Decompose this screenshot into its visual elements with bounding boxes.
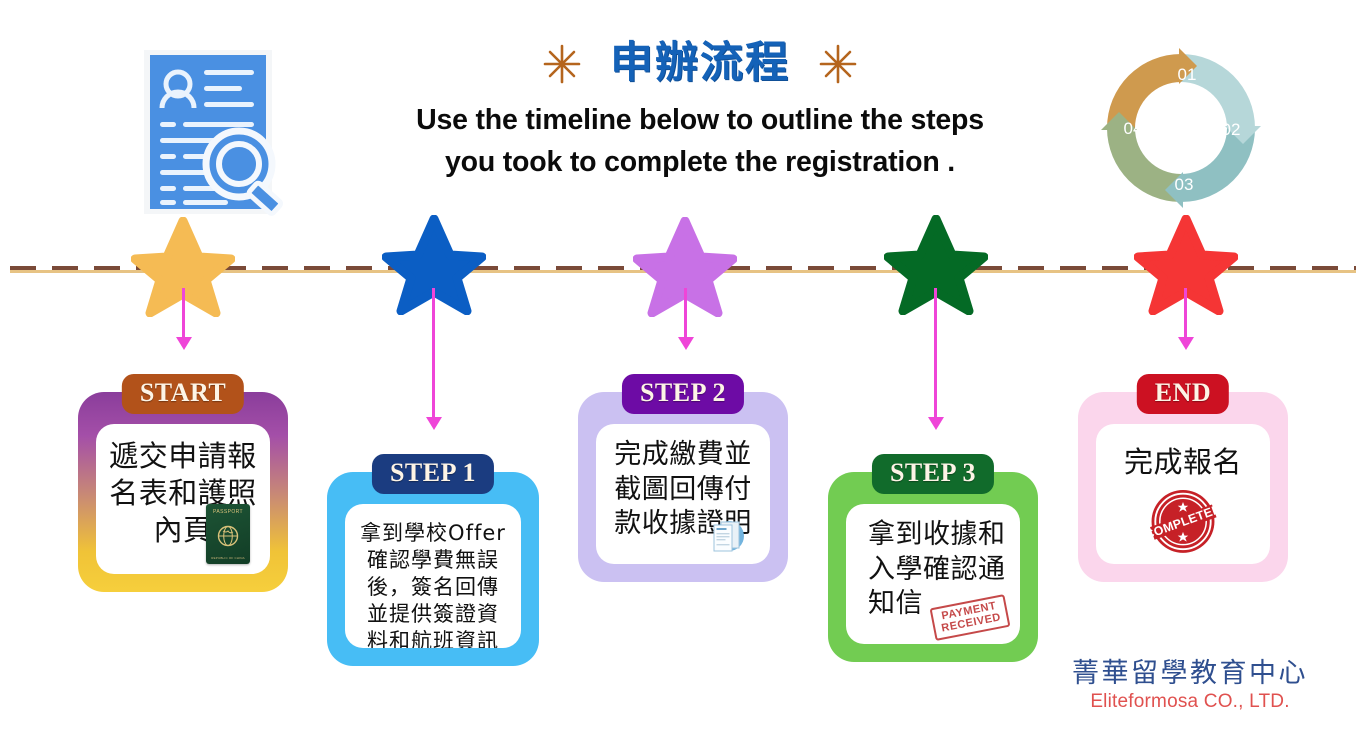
globe-icon: [217, 525, 239, 547]
receipt-icon: [706, 514, 748, 556]
header-block: 申辦流程 Use the timeline below to outline t…: [355, 40, 1045, 182]
card-end-text: 完成報名: [1124, 444, 1242, 481]
document-search-icon: [128, 42, 306, 222]
card-step1[interactable]: STEP 1 拿到學校Offer 確認學費無誤 後，簽名回傳 並提供簽證資 料和…: [327, 472, 539, 666]
logo-name-cn: 菁華留學教育中心: [1030, 658, 1350, 689]
card-step1-body: 拿到學校Offer 確認學費無誤 後，簽名回傳 並提供簽證資 料和航班資訊: [345, 504, 521, 648]
passport-label-top: PASSPORT: [213, 509, 243, 515]
company-logo: 菁華留學教育中心 Eliteformosa CO., LTD.: [1030, 658, 1350, 713]
asterisk-right-icon: [816, 41, 860, 87]
cycle-label-03: 03: [1175, 175, 1194, 194]
card-step2-body: 完成繳費並 截圖回傳付 款收據證明: [596, 424, 770, 564]
card-step2[interactable]: STEP 2 完成繳費並 截圖回傳付 款收據證明: [578, 392, 788, 582]
connector-end: [1184, 288, 1187, 340]
badge-step1: STEP 1: [372, 454, 494, 494]
logo-name-en: Eliteformosa CO., LTD.: [1030, 691, 1350, 713]
badge-start: START: [122, 374, 244, 414]
connector-start: [182, 288, 185, 340]
card-step3-body: 拿到收據和 入學確認通 知信 PAYMENT RECEIVED: [846, 504, 1020, 644]
card-start-body: 遞交申請報 名表和護照 內頁 PASSPORT REPUBLIC OF CHIN…: [96, 424, 270, 574]
card-step3[interactable]: STEP 3 拿到收據和 入學確認通 知信 PAYMENT RECEIVED: [828, 472, 1038, 662]
card-step1-text: 拿到學校Offer 確認學費無誤 後，簽名回傳 並提供簽證資 料和航班資訊: [360, 520, 506, 648]
card-end-body: 完成報名 COMPLETED: [1096, 424, 1270, 564]
card-start[interactable]: START 遞交申請報 名表和護照 內頁 PASSPORT REPUBLIC O…: [78, 392, 288, 592]
subtitle-line-1: Use the timeline below to outline the st…: [355, 101, 1045, 140]
cycle-diagram-icon: 01 02 03 04: [1090, 38, 1272, 218]
connector-step2: [684, 288, 687, 340]
passport-label-bottom: REPUBLIC OF CHINA: [211, 556, 245, 560]
connector-step3: [934, 288, 937, 420]
badge-step3: STEP 3: [872, 454, 994, 494]
cycle-label-02: 02: [1222, 120, 1241, 139]
badge-end: END: [1137, 374, 1229, 414]
badge-step2: STEP 2: [622, 374, 744, 414]
passport-icon: PASSPORT REPUBLIC OF CHINA: [206, 504, 250, 564]
card-end[interactable]: END 完成報名 COMPLETED: [1078, 392, 1288, 582]
completed-seal-icon: COMPLETED: [1137, 487, 1229, 556]
infographic-canvas: 申辦流程 Use the timeline below to outline t…: [0, 0, 1366, 749]
page-title: 申辦流程: [610, 40, 790, 87]
cycle-label-01: 01: [1178, 65, 1197, 84]
cycle-label-04: 04: [1124, 119, 1143, 138]
asterisk-left-icon: [540, 41, 584, 87]
connector-step1: [432, 288, 435, 420]
subtitle-line-2: you took to complete the registration .: [355, 143, 1045, 182]
